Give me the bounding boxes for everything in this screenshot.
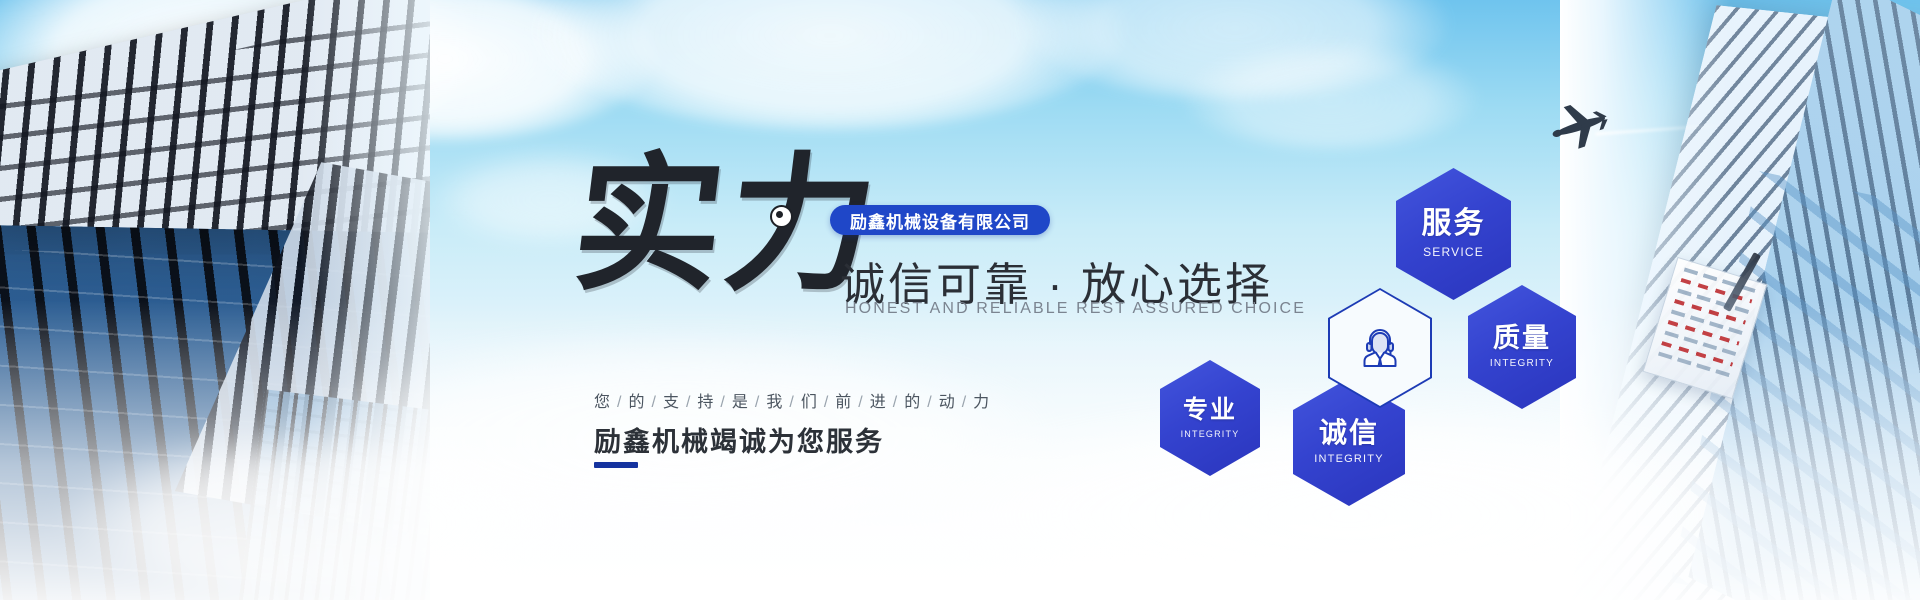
hexagon-service-en: SERVICE	[1423, 245, 1484, 259]
hexagon-quality[interactable]: 质量 INTEGRITY	[1468, 285, 1576, 409]
hexagon-service[interactable]: 服务 SERVICE	[1396, 168, 1511, 300]
hexagon-professional[interactable]: 专业 INTEGRITY	[1160, 360, 1260, 476]
hexagon-quality-cn: 质量	[1493, 325, 1551, 352]
hero-banner: 实力 励鑫机械设备有限公司 诚信可靠 · 放心选择 HONEST AND REL…	[0, 0, 1920, 600]
hexagon-agent-outline[interactable]	[1328, 288, 1432, 408]
hexagon-integrity-en: INTEGRITY	[1314, 453, 1383, 465]
hexagon-integrity-cn: 诚信	[1319, 419, 1379, 447]
headset-agent-icon	[1354, 322, 1406, 374]
hexagon-professional-cn: 专业	[1183, 398, 1237, 423]
hexagon-service-cn: 服务	[1422, 209, 1486, 239]
hexagon-cluster: 服务 SERVICE 质量 INTEGRITY 诚信 INTEGRITY 专业 …	[0, 0, 1920, 600]
hexagon-professional-en: INTEGRITY	[1181, 429, 1240, 439]
hexagon-quality-en: INTEGRITY	[1490, 358, 1554, 369]
